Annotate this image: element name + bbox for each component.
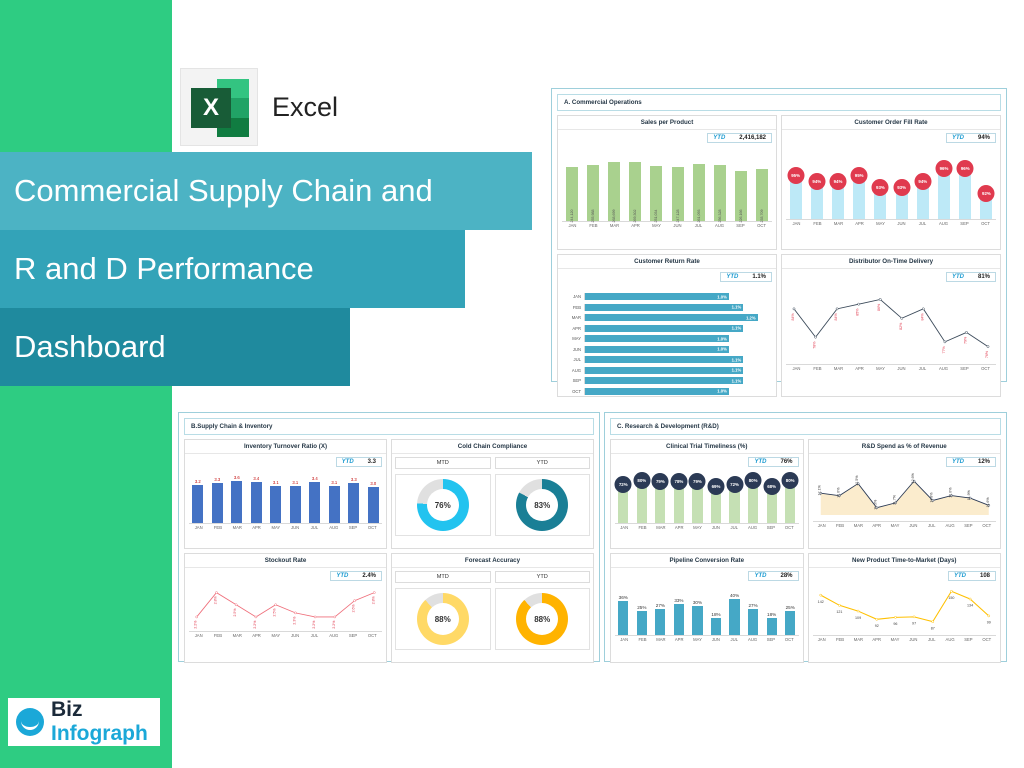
chart-cold-chain-compliance: Cold Chain Compliance MTDYTD 76%83% [391,439,594,549]
x-axis-tick: MAY [266,525,285,530]
data-point [314,616,316,618]
data-point [255,616,257,618]
ytd-badge-pipeline: YTD 28% [748,571,798,581]
data-point-label: 109 [855,616,861,620]
data-point-label: 134 [967,604,973,608]
data-point-label: 12.6% [911,472,915,483]
chart-title: Clinical Trial Timeliness (%) [611,440,803,454]
bar-slot: 3.3 [209,475,227,523]
x-axis-tick: FEB [208,525,227,530]
chart-customer-return-rate: Customer Return Rate YTD 1.1% JAN1.0%FEB… [557,254,777,397]
data-point-label: 11.5% [873,499,877,510]
data-point [969,598,971,600]
x-axis-tick: JAN [615,525,633,530]
data-point-label: 12.0% [948,487,952,498]
ytd-badge-on-time: YTD 81% [946,272,996,282]
hbar-row: FEB1.1% [562,303,772,312]
data-point-label: 92 [874,624,878,628]
hbar-track: 1.0% [584,388,772,395]
bar-slot: 25% [782,593,799,635]
bar-slot: 3.4 [248,475,266,523]
ytd-key: YTD [342,459,354,465]
ytd-badge-rd-spend: YTD 12% [946,457,996,467]
bar-slot: 69% [708,477,725,523]
hbar-value-label: 1.2% [746,315,756,320]
hbar-row: JUN1.0% [562,345,772,354]
data-point-label: 2.8% [371,596,375,604]
bar: 80% [748,481,758,523]
bar-value-label: 269,302 [633,210,637,223]
bar [748,609,758,635]
bar-slot: 255,988 [583,155,602,221]
bar: 79% [692,482,702,523]
bar-value-label: 235,709 [760,210,764,223]
bar: 94% [917,182,929,219]
data-point [901,317,903,319]
bar-value-label: 33% [674,598,683,603]
bar-slot: 27% [652,593,669,635]
bar: 93% [896,188,908,219]
chart-title: Cold Chain Compliance [392,440,593,454]
x-axis-tick: AUG [933,366,954,371]
excel-branding: X Excel [180,68,338,146]
x-axis-tick: MAR [652,525,670,530]
ytd-badge-stockout: YTD 2.4% [330,571,382,581]
data-point-label: 84% [920,312,924,320]
x-axis-tick: SEP [954,366,975,371]
chart-customer-order-fill-rate: Customer Order Fill Rate YTD 94% 95%94%9… [781,115,1001,250]
donut-gauge: 88% [417,593,469,645]
bar-slot: 92% [977,157,996,219]
bar [290,486,301,523]
bar [692,606,702,635]
bar-value-label: 3.4 [253,476,259,481]
data-point [965,331,967,333]
x-axis-tick: AUG [933,221,954,226]
hbar-fill: 1.1% [585,356,743,363]
bar: 235,709 [756,169,768,221]
bar-slot: 36% [615,593,632,635]
bar-slot: 93% [871,157,890,219]
bar-value-badge: 80% [782,472,799,489]
bar [270,486,281,523]
bar-value-label: 3.1 [273,480,279,485]
bar [655,609,665,635]
hbar-value-label: 1.1% [732,305,742,310]
hbar-track: 1.1% [584,356,772,363]
bar [212,483,223,523]
x-axis-tick: MAY [646,223,667,228]
bar [329,486,340,523]
bar-slot: 95% [786,157,805,219]
data-point [196,616,198,618]
ytd-key: YTD [754,573,766,579]
bar-value-label: 3.0 [370,481,376,486]
data-point [373,592,375,594]
gauge-value-label: 88% [534,615,550,624]
data-point-label: 96 [893,622,897,626]
chart-clinical-trial-timeliness: Clinical Trial Timeliness (%) YTD 76% 72… [610,439,804,549]
hbar-row: JUL1.1% [562,355,772,364]
bar: 80% [785,481,795,523]
bar-value-label: 18% [767,612,776,617]
x-axis-tick: SEP [959,637,977,642]
data-point-label: 2.2% [194,621,198,629]
logo-circle-icon [16,708,44,736]
bar [368,487,379,523]
gauge-period-headers: MTDYTD [395,457,590,472]
bar: 68% [767,487,777,523]
data-point-label: 2.5% [273,609,277,617]
x-axis-tick: JUL [923,637,941,642]
bar: 95% [853,176,865,219]
bar-slot: 94% [828,157,847,219]
data-point-label: 2.2% [253,621,257,629]
hbar-value-label: 1.0% [717,389,727,394]
hbar-value-label: 1.1% [732,326,742,331]
bar-value-label: 30% [693,600,702,605]
ytd-value: 28% [780,573,792,579]
bar-value-badge: 93% [893,179,910,196]
bar-value-badge: 95% [787,167,804,184]
bar: 79% [655,482,665,523]
data-point-label: 142 [817,600,823,604]
x-axis-tick: JAN [615,637,633,642]
x-axis-tick: JAN [189,633,208,638]
bar-slot: 96% [956,157,975,219]
gauge-cell: 76% [395,474,491,536]
gauge-value-label: 88% [435,615,451,624]
hbar-category: FEB [562,305,584,310]
chart-title: Customer Order Fill Rate [782,116,1000,130]
bar-value-label: 27% [656,603,665,608]
hbar-category: SEP [562,378,584,383]
bar-value-label: 3.6 [234,475,240,480]
bar: 94% [811,182,823,219]
bar-slot: 96% [934,157,953,219]
bar [711,618,721,635]
hbar-value-label: 1.1% [732,378,742,383]
chart-title: R&D Spend as % of Revenue [809,440,1001,454]
excel-icon: X [180,68,258,146]
bar-plot-area: 244,120255,988268,699269,302251,034247,1… [562,133,772,221]
gauge-row: 88%88% [395,588,590,650]
data-point [894,616,896,618]
bar-value-label: 251,034 [654,210,658,223]
data-point [838,604,840,606]
x-axis-tick: OCT [363,633,382,638]
chart-title: Pipeline Conversion Rate [611,554,803,568]
x-axis-tick: MAR [228,633,247,638]
bar-slot: 3.1 [326,475,344,523]
gauge-period-label: MTD [395,457,491,469]
bar-slot: 226,166 [732,155,751,221]
x-axis-tick: JUN [707,525,725,530]
bar-value-badge: 94% [808,173,825,190]
data-point-label: 87 [930,626,934,630]
data-point [215,592,217,594]
hbar-track: 1.1% [584,325,772,332]
data-point [836,308,838,310]
x-axis-tick: MAR [828,221,849,226]
hbar-fill: 1.0% [585,293,729,300]
bar: 72% [729,485,739,523]
data-point-label: 121 [836,610,842,614]
bar [618,601,628,635]
gauge-cell: 88% [395,588,491,650]
x-axis-tick: JUN [285,633,304,638]
bar: 269,302 [629,162,641,221]
hbar-category: JAN [562,294,584,299]
x-axis-tick: JUN [707,637,725,642]
bar-slot: 94% [913,157,932,219]
data-point-label: 86% [877,303,881,311]
data-point-label: 97 [912,622,916,626]
data-point [814,336,816,338]
data-point [793,308,795,310]
hbar-track: 1.0% [584,335,772,342]
bar-value-label: 3.3 [214,477,220,482]
bar-value-label: 27% [749,603,758,608]
bar [767,618,777,635]
bar-slot: 68% [763,477,780,523]
x-axis-tick: JAN [562,223,583,228]
x-axis-tick: FEB [633,525,651,530]
bar-value-label: 40% [730,593,739,598]
hbar-track: 1.0% [584,346,772,353]
bar-value-label: 3.1 [331,480,337,485]
ytd-badge-time-to-market: YTD 108 [948,571,996,581]
bar: 69% [711,487,721,523]
x-axis-tick: MAY [870,366,891,371]
hbar-category: APR [562,326,584,331]
gauge-cell: 88% [495,588,591,650]
hbar-track: 1.0% [584,293,772,300]
bar: 72% [618,485,628,523]
bar: 95% [790,176,802,219]
data-point-label: 85% [856,308,860,316]
donut-gauge: 76% [417,479,469,531]
hbar-track: 1.1% [584,377,772,384]
bar: 96% [938,169,950,219]
hbar-category: MAY [562,336,584,341]
excel-label: Excel [272,92,338,123]
ytd-value: 2.4% [362,573,376,579]
data-point-label: 2.2% [332,621,336,629]
bar-slot: 269,302 [626,155,645,221]
x-axis-tick: JUN [904,523,922,528]
hbar-value-label: 1.1% [732,368,742,373]
chart-inventory-turnover-ratio: Inventory Turnover Ratio (X) YTD 3.3 3.2… [184,439,387,549]
bar-slot: 80% [634,477,651,523]
data-point-label: 12.5% [855,475,859,486]
bar-value-label: 244,120 [570,210,574,223]
bar-value-label: 36% [619,595,628,600]
bar-value-label: 255,988 [591,210,595,223]
ytd-key: YTD [713,135,725,141]
data-point-label: 11.8% [929,492,933,503]
data-point [819,594,821,596]
hbar-row: APR1.1% [562,324,772,333]
hbar-row: SEP1.1% [562,376,772,385]
bar-slot: 3.1 [267,475,285,523]
data-point-label: 84% [834,312,838,320]
x-axis-labels: JANFEBMARAPRMAYJUNJULAUGSEPOCT [615,523,799,530]
x-axis-tick: MAR [652,637,670,642]
x-axis-tick: AUG [324,525,343,530]
section-header-b: B.Supply Chain & Inventory [184,418,594,435]
hbar-fill: 1.0% [585,335,729,342]
bar-value-label: 268,699 [612,210,616,223]
bar: 92% [980,194,992,219]
chart-title: Stockout Rate [185,554,386,568]
x-axis-tick: AUG [941,637,959,642]
bar-plot-area: 95%94%94%95%93%93%94%96%96%92% [786,133,996,219]
bar-slot: 79% [652,477,669,523]
panel-research-development: C. Research & Development (R&D) Clinical… [604,412,1007,662]
bar [251,482,262,523]
x-axis-tick: OCT [975,221,996,226]
hbar-fill: 1.0% [585,388,729,395]
bar: 247,128 [672,167,684,221]
bar [309,482,320,523]
bar-slot: 261,093 [689,155,708,221]
bar-slot: 79% [689,477,706,523]
panel-commercial-operations: A. Commercial Operations Sales per Produ… [551,88,1007,382]
bar-value-label: 247,128 [676,210,680,223]
x-axis-tick: MAY [886,523,904,528]
x-axis-tick: OCT [780,637,798,642]
x-axis-tick: MAR [828,366,849,371]
data-point-label: 2.8% [213,596,217,604]
data-point [944,341,946,343]
hbar-fill: 1.1% [585,304,743,311]
bar-slot: 95% [850,157,869,219]
bar-slot: 18% [708,593,725,635]
data-point [879,298,881,300]
ytd-value: 2,416,182 [739,135,766,141]
bar-slot: 251,034 [647,155,666,221]
hbar-fill: 1.1% [585,377,743,384]
bar-slot: 244,120 [562,155,581,221]
chart-sales-per-product: Sales per Product YTD 2,416,182 244,1202… [557,115,777,250]
x-axis-tick: OCT [978,637,996,642]
area-fill [820,481,988,515]
x-axis-labels: JANFEBMARAPRMAYJUNJULAUGSEPOCT [813,635,997,642]
ytd-key: YTD [754,459,766,465]
bar-value-label: 226,166 [739,210,743,223]
x-axis-tick: MAR [849,523,867,528]
hbar-row: AUG1.1% [562,366,772,375]
gauge-row: 76%83% [395,474,590,536]
gauge-period-label: YTD [495,571,591,583]
x-axis-labels: JANFEBMARAPRMAYJUNJULAUGSEPOCT [615,635,799,642]
bar-value-badge: 79% [689,473,706,490]
chart-title: Customer Return Rate [558,255,776,269]
hbar-plot-area: JAN1.0%FEB1.1%MAR1.2%APR1.1%MAY1.0%JUN1.… [562,272,772,396]
data-line [197,593,375,617]
hbar-track: 1.1% [584,304,772,311]
x-axis-tick: JUL [912,221,933,226]
bar: 80% [637,481,647,523]
data-point [950,590,952,592]
x-axis-labels: JANFEBMARAPRMAYJUNJULAUGSEPOCT [786,364,996,371]
bar-slot: 3.6 [228,475,246,523]
hbar-value-label: 1.0% [717,347,727,352]
hbar-category: AUG [562,368,584,373]
bar-value-label: 3.4 [312,476,318,481]
chart-title: Inventory Turnover Ratio (X) [185,440,386,454]
x-axis-tick: AUG [743,637,761,642]
data-point-label: 84% [791,312,795,320]
data-point-label: 99 [986,621,990,625]
bar-slot: 27% [745,593,762,635]
data-point-label: 78% [813,341,817,349]
bar-slot: 18% [763,593,780,635]
logo-text-biz: Biz [51,698,83,721]
data-point [875,618,877,620]
bar-slot: 25% [634,593,651,635]
x-axis-tick: JUN [285,525,304,530]
x-axis-tick: APR [868,637,886,642]
bar-slot: 72% [615,477,632,523]
bar-value-badge: 78% [670,473,687,490]
ytd-key: YTD [336,573,348,579]
x-axis-tick: FEB [583,223,604,228]
ytd-key: YTD [726,274,738,280]
chart-title: Distributor On-Time Delivery [782,255,1000,269]
bar-value-label: 261,093 [697,210,701,223]
bar-slot: 30% [689,593,706,635]
ytd-key: YTD [952,274,964,280]
hbar-row: MAR1.2% [562,313,772,322]
donut-gauge: 83% [516,479,568,531]
x-axis-labels: JANFEBMARAPRMAYJUNJULAUGSEPOCT [189,523,382,530]
x-axis-tick: APR [247,633,266,638]
x-axis-tick: JUL [923,523,941,528]
x-axis-tick: APR [625,223,646,228]
bar-slot: 78% [671,477,688,523]
x-axis-tick: AUG [743,525,761,530]
chart-title: Sales per Product [558,116,776,130]
x-axis-tick: FEB [807,221,828,226]
x-axis-tick: SEP [730,223,751,228]
biz-infograph-logo: Biz Infograph [8,698,160,746]
bar: 226,166 [735,171,747,221]
ytd-value: 76% [780,459,792,465]
ytd-badge-clinical: YTD 76% [748,457,798,467]
x-axis-tick: JAN [813,637,831,642]
data-point [294,612,296,614]
x-axis-tick: OCT [363,525,382,530]
ytd-value: 12% [978,459,990,465]
bar [729,599,739,635]
bar-value-badge: 69% [708,478,725,495]
gauge-value-label: 76% [435,501,451,510]
bar [785,611,795,635]
hbar-category: JUL [562,357,584,362]
x-axis-tick: MAY [688,637,706,642]
x-axis-tick: JUN [891,366,912,371]
gauge-cell: 83% [495,474,591,536]
dashboard-title-line-2: R and D Performance [0,230,465,308]
bar-slot: 40% [726,593,743,635]
x-axis-tick: MAR [604,223,625,228]
bar-slot: 94% [807,157,826,219]
data-point [987,345,989,347]
x-axis-tick: OCT [975,366,996,371]
x-axis-tick: FEB [208,633,227,638]
